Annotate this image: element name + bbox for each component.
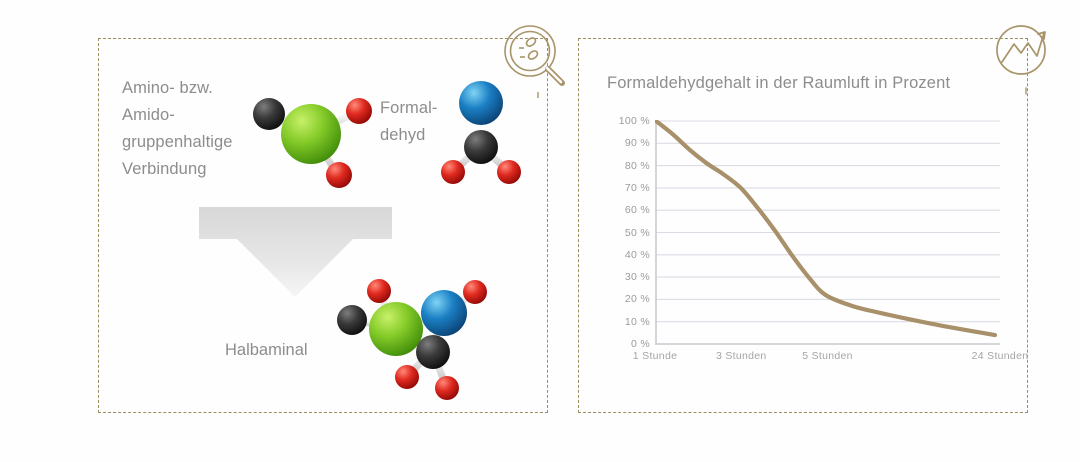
x-axis-tick: 24 Stunden — [972, 350, 1029, 362]
y-axis-tick: 0 % — [604, 338, 650, 350]
line-chart: 100 %90 %80 %70 %60 %50 %40 %30 %20 %10 … — [600, 120, 1000, 370]
y-axis-tick: 40 % — [604, 249, 650, 261]
product-label: Halbaminal — [225, 338, 308, 362]
x-axis-tick: 3 Stunden — [716, 350, 767, 362]
chart-data-line — [656, 121, 995, 335]
y-axis-tick-labels: 100 %90 %80 %70 %60 %50 %40 %30 %20 %10 … — [600, 120, 650, 370]
x-axis-tick: 5 Stunden — [802, 350, 853, 362]
amino-compound-molecule — [238, 82, 383, 194]
y-axis-tick: 10 % — [604, 316, 650, 328]
y-axis-tick: 30 % — [604, 271, 650, 283]
chart-gridlines — [656, 121, 1000, 322]
y-axis-tick: 100 % — [604, 115, 650, 127]
x-axis-tick: 1 Stunde — [633, 350, 677, 362]
y-axis-tick: 60 % — [604, 204, 650, 216]
formaldehyde-molecule — [432, 68, 532, 190]
y-axis-tick: 50 % — [604, 227, 650, 239]
chart-title: Formaldehydgehalt in der Raumluft in Pro… — [607, 74, 950, 93]
y-axis-tick: 70 % — [604, 182, 650, 194]
x-axis-tick-labels: 1 Stunde3 Stunden5 Stunden24 Stunden — [655, 350, 1000, 374]
chart-plot-area — [655, 120, 1000, 345]
y-axis-tick: 20 % — [604, 293, 650, 305]
down-arrow-icon — [193, 205, 398, 300]
y-axis-tick: 80 % — [604, 160, 650, 172]
y-axis-tick: 90 % — [604, 137, 650, 149]
